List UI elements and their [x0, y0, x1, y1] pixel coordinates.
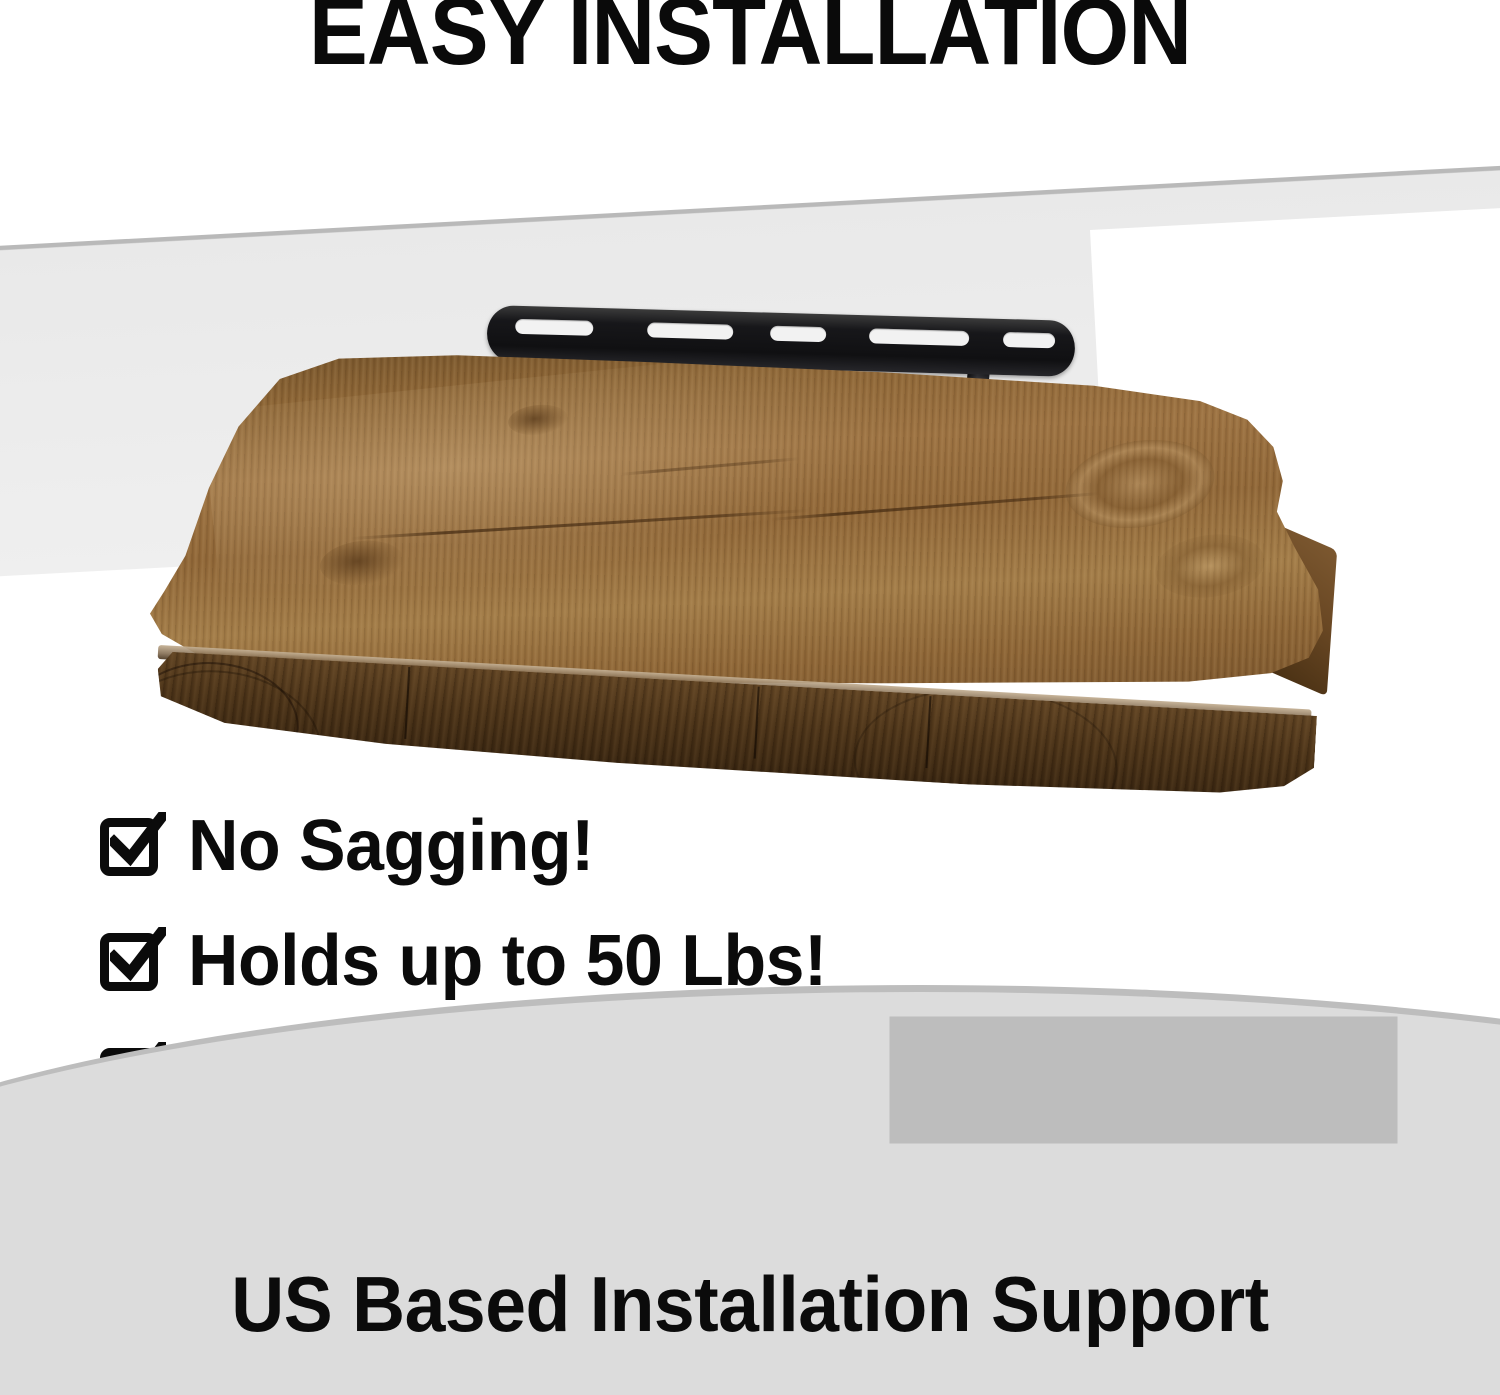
- wood-knot: [1151, 528, 1269, 605]
- checklist-item: No Sagging!: [98, 788, 1198, 903]
- edge-seam: [404, 667, 410, 739]
- edge-seam: [754, 687, 760, 759]
- checklist-item-label: No Sagging!: [188, 810, 594, 882]
- footer-band-label: US Based Installation Support: [45, 1265, 1455, 1343]
- bracket-slot: [647, 322, 733, 339]
- checklist-item-label: Holds up to 50 Lbs!: [188, 925, 827, 997]
- checkmark-glyph: [110, 812, 166, 868]
- product-photo: [0, 150, 1500, 850]
- bracket-slot: [515, 319, 593, 336]
- page-title: EASY INSTALLATION: [60, 0, 1440, 80]
- checked-box-icon: [98, 810, 170, 882]
- checkmark-glyph: [110, 927, 166, 983]
- bracket-slot: [770, 326, 826, 343]
- wood-shelf-board: [150, 345, 1330, 775]
- checked-box-icon: [98, 925, 170, 997]
- shelf-highlight: [201, 339, 918, 611]
- bracket-slot: [869, 328, 969, 346]
- product-feature-graphic: EASY INSTALLATION: [0, 0, 1500, 1395]
- shelf-top-surface: [150, 345, 1330, 685]
- wood-knot: [1059, 430, 1221, 538]
